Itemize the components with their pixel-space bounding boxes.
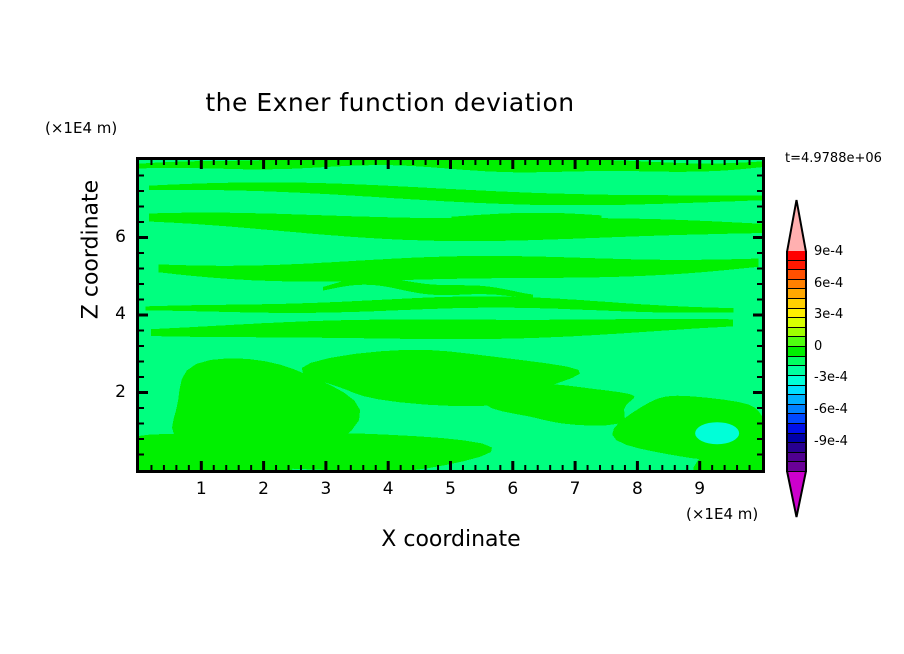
colorbar-tick-label: 0 (814, 339, 822, 354)
page-title: the Exner function deviation (0, 88, 780, 117)
colorbar-band (788, 299, 805, 309)
low-value-patch (695, 422, 739, 444)
x-tick-label: 7 (555, 479, 595, 499)
x-axis-title: X coordinate (136, 527, 766, 552)
colorbar-tick-label: 6e-4 (814, 276, 843, 291)
x-tick-label: 5 (431, 479, 471, 499)
colorbar-band (788, 424, 805, 434)
colorbar-low-extend-arrow (786, 471, 807, 518)
x-tick-label: 8 (617, 479, 657, 499)
colorbar-band (788, 453, 805, 463)
colorbar-band (788, 366, 805, 376)
colorbar-band (788, 414, 805, 424)
x-tick-label: 6 (493, 479, 533, 499)
y-axis-unit-label: (×1E4 m) (45, 119, 117, 137)
colorbar-band (788, 405, 805, 415)
colorbar-tick-label: -6e-4 (814, 402, 848, 417)
x-tick-label: 4 (368, 479, 408, 499)
figure-canvas: the Exner function deviation (×1E4 m) (×… (0, 0, 904, 654)
y-tick-label: 2 (100, 382, 126, 402)
timestamp-annotation: t=4.9788e+06 (785, 151, 882, 166)
colorbar-band (788, 318, 805, 328)
x-tick-label: 2 (244, 479, 284, 499)
colorbar-band (788, 357, 805, 367)
colorbar-band (788, 376, 805, 386)
colorbar-band (788, 289, 805, 299)
colorbar-tick-label: 9e-4 (814, 244, 843, 259)
colorbar-band (788, 328, 805, 338)
colorbar-band (788, 270, 805, 280)
colorbar-band (788, 386, 805, 396)
colorbar-band (788, 337, 805, 347)
colorbar-band (788, 309, 805, 319)
x-axis-unit-label: (×1E4 m) (686, 505, 758, 523)
colorbar-band (788, 395, 805, 405)
colorbar-band (788, 261, 805, 271)
x-tick-label: 9 (680, 479, 720, 499)
x-tick-label: 3 (306, 479, 346, 499)
colorbar-tick-label: -3e-4 (814, 370, 848, 385)
colorbar-band (788, 251, 805, 261)
contour-plot-area (136, 157, 765, 473)
colorbar-band (788, 443, 805, 453)
colorbar-band (788, 434, 805, 444)
y-tick-label: 6 (100, 227, 126, 247)
colorbar-tick-label: 3e-4 (814, 307, 843, 322)
colorbar-band (788, 280, 805, 290)
y-tick-label: 4 (100, 304, 126, 324)
colorbar[interactable] (786, 251, 807, 472)
contour-field (139, 160, 762, 470)
x-tick-label: 1 (181, 479, 221, 499)
colorbar-high-extend-arrow (786, 199, 807, 252)
colorbar-tick-label: -9e-4 (814, 434, 848, 449)
colorbar-band (788, 347, 805, 357)
